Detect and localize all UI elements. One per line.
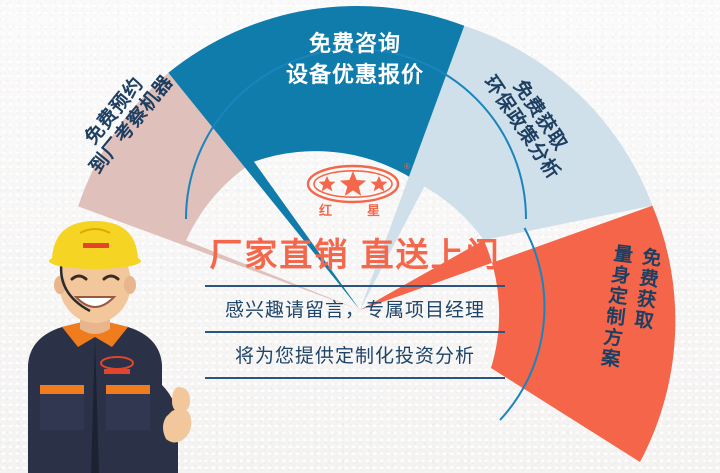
hongxing-logo: ® 红 星: [295, 160, 415, 220]
worker-chest-logo-text: [104, 369, 130, 374]
worker-helmet-logo: [83, 243, 109, 248]
subline-2: 将为您提供定制化投资分析: [170, 341, 540, 368]
divider-top: [205, 285, 505, 287]
logo-brand-char-2: 星: [367, 200, 380, 219]
logo-brand-char-1: 红: [319, 200, 332, 219]
center-content: ® 红 星 厂家直销 直送上门 感兴趣请留言，专属项目经理 将为您提供定制化投资…: [170, 160, 540, 387]
worker-thumb-up-icon: [172, 387, 190, 413]
divider-middle: [205, 331, 505, 333]
headline: 厂家直销 直送上门: [170, 228, 540, 276]
logo-star-center: [340, 171, 366, 196]
worker-ear-right: [124, 276, 136, 294]
worker-stripe-left: [40, 385, 84, 394]
worker-pocket-left: [40, 394, 84, 430]
worker-helmet-brim: [49, 253, 141, 269]
worker-pocket-right: [106, 394, 150, 430]
logo-star-left: [319, 176, 336, 191]
subline-1: 感兴趣请留言，专属项目经理: [170, 295, 540, 322]
worker-photo: [0, 215, 205, 473]
worker-stripe-right: [106, 385, 150, 394]
logo-star-right: [371, 176, 388, 191]
registered-trademark-icon: ®: [404, 162, 410, 171]
divider-bottom: [205, 377, 505, 379]
logo-graphic: [295, 160, 415, 220]
promo-banner: 免费预约 到厂考察机器 免费咨询 设备优惠报价 免费获取 环保政策分析 免费获取…: [0, 0, 720, 473]
